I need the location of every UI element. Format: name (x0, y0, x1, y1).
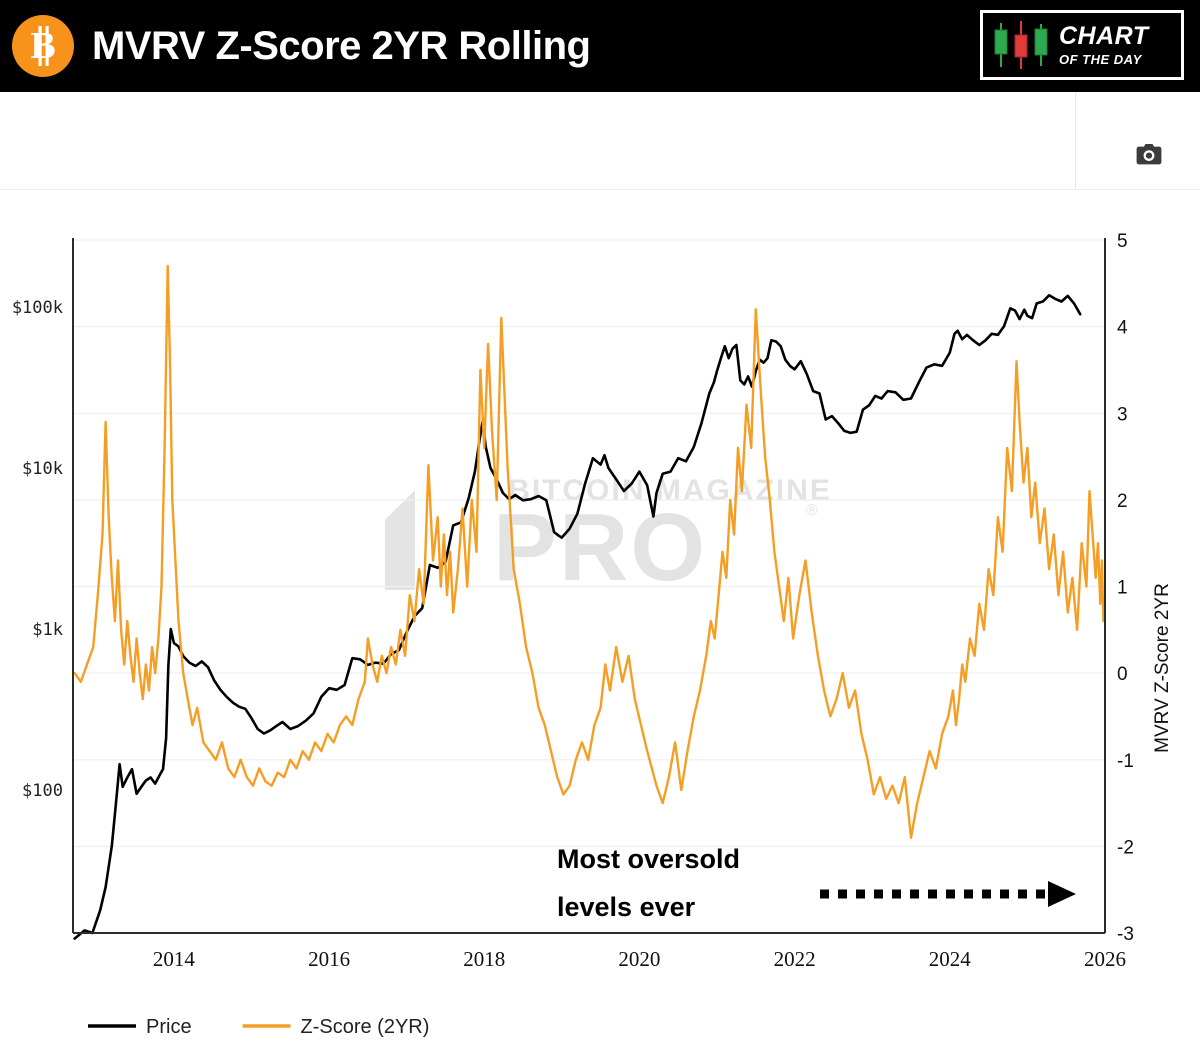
right-axis-tick: 2 (1117, 491, 1128, 512)
x-axis-tick: 2024 (929, 947, 972, 971)
chart-of-the-day-page: B MVRV Z-Score 2YR Rolling (0, 0, 1200, 1054)
x-axis-tick: 2014 (153, 947, 196, 971)
right-axis-tick: -3 (1117, 924, 1134, 945)
right-axis-title: MVRV Z-Score 2YR (1152, 583, 1173, 753)
left-axis-tick: $100 (22, 781, 63, 801)
x-axis-tick: 2016 (308, 947, 350, 971)
chart-of-the-day-badge: CHART OF THE DAY (980, 10, 1184, 80)
left-axis-ticks: $100$1k$10k$100k (12, 298, 63, 801)
toolbar-divider-vertical (1075, 92, 1076, 189)
right-axis-tick: 4 (1117, 318, 1128, 339)
x-axis-ticks: 2014201620182020202220242026 (153, 947, 1126, 971)
page-header: B MVRV Z-Score 2YR Rolling (0, 0, 1200, 92)
left-axis-tick: $100k (12, 298, 63, 318)
legend-label: Price (146, 1016, 192, 1038)
chart-toolbar (0, 92, 1200, 189)
page-title: MVRV Z-Score 2YR Rolling (92, 24, 590, 69)
badge-subtitle: OF THE DAY (1059, 53, 1142, 66)
right-axis-ticks: -3-2-1012345 (1117, 231, 1134, 945)
x-axis-tick: 2026 (1084, 947, 1126, 971)
right-axis-tick: -1 (1117, 751, 1134, 772)
annotation-arrow-head (1048, 881, 1076, 907)
chart-container: BITCOIN MAGAZINE PRO ® $100$1k$10k$100k … (0, 190, 1200, 1054)
watermark-registered: ® (806, 502, 818, 519)
right-axis-tick: 0 (1117, 664, 1128, 685)
series-1 (75, 295, 1081, 938)
bitcoin-icon: B (12, 15, 74, 77)
left-axis-tick: $1k (32, 620, 63, 640)
chart-gridlines (73, 240, 1105, 933)
badge-title: CHART (1059, 24, 1149, 49)
annotation-line2: levels ever (557, 892, 696, 922)
x-axis-tick: 2020 (618, 947, 660, 971)
legend-label: Z-Score (2YR) (301, 1016, 430, 1038)
svg-text:B: B (30, 25, 55, 67)
watermark-line2: PRO (493, 494, 707, 601)
annotation-most-oversold: Most oversold levels ever (557, 844, 1076, 922)
camera-icon[interactable] (1132, 139, 1166, 169)
x-axis-tick: 2018 (463, 947, 505, 971)
mvrv-zscore-chart: BITCOIN MAGAZINE PRO ® $100$1k$10k$100k … (0, 190, 1200, 1054)
right-axis-tick: 3 (1117, 404, 1128, 425)
left-axis-tick: $10k (22, 459, 63, 479)
right-axis-tick: -2 (1117, 837, 1134, 858)
chart-series (75, 266, 1104, 939)
chart-legend: PriceZ-Score (2YR) (88, 1016, 429, 1038)
annotation-line1: Most oversold (557, 844, 740, 874)
right-axis-tick: 5 (1117, 231, 1128, 252)
right-axis-tick: 1 (1117, 578, 1128, 599)
x-axis-tick: 2022 (774, 947, 816, 971)
candlestick-icon (991, 19, 1053, 71)
